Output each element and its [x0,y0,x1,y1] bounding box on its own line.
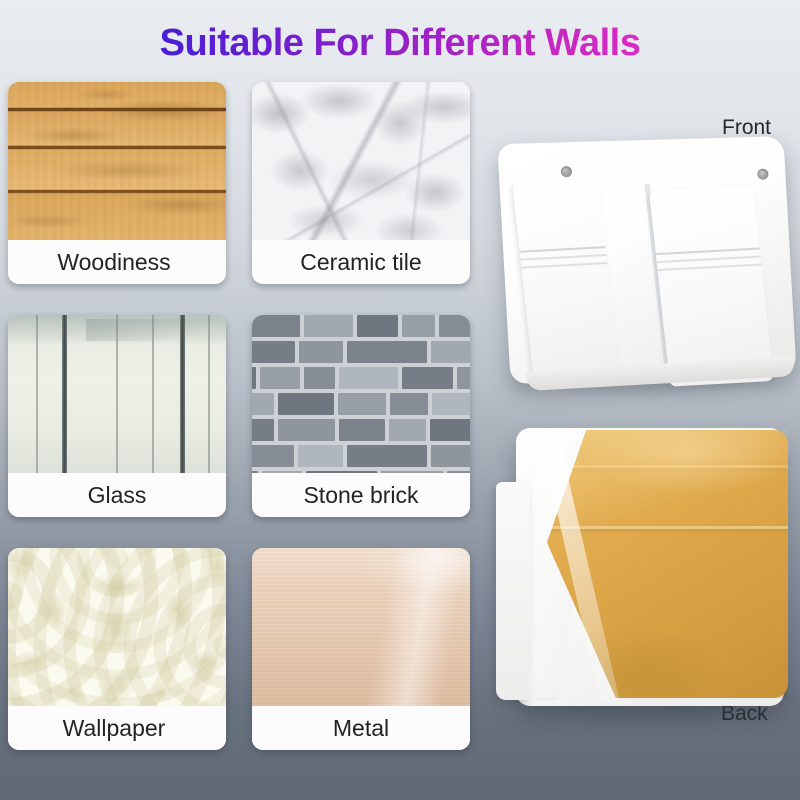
brick [347,341,426,363]
product-backplate [497,136,796,384]
wall-type-label: Ceramic tile [300,251,421,274]
brick-course [252,341,470,363]
brick-course [252,315,470,337]
glass-mullion [180,315,185,473]
wall-type-card-ceramic-tile[interactable]: Ceramic tile [252,82,470,284]
pocket-seam [656,248,760,256]
wall-type-caption: Ceramic tile [252,240,470,284]
pocket-seam [657,263,761,271]
brick-course [252,419,470,441]
wall-type-caption: Stone brick [252,473,470,517]
brick [252,315,300,337]
brick [439,315,470,337]
brick-course [252,393,470,415]
metal-sheen-overlay [252,548,470,706]
product-side-flange [496,482,530,700]
brick [252,419,274,441]
brick [338,393,385,415]
wall-type-caption: Woodiness [8,240,226,284]
glass-texture [8,315,226,473]
product-front-view [492,138,798,390]
pocket-seam [657,256,761,264]
wall-type-label: Glass [88,484,147,507]
brick [430,419,470,441]
wall-type-label: Metal [333,717,389,740]
wood-grain-overlay [8,82,226,240]
wall-type-label: Wallpaper [63,717,172,740]
brick [431,445,470,467]
brick [431,341,470,363]
pocket-seam [521,262,607,269]
wall-type-card-glass[interactable]: Glass [8,315,226,517]
brick [260,367,300,389]
glass-seam [208,315,210,473]
product-back-view [496,418,798,718]
remote-pocket-left [512,178,619,382]
brick [339,367,398,389]
wall-type-card-wallpaper[interactable]: Wallpaper [8,548,226,750]
wall-type-caption: Wallpaper [8,706,226,750]
brick [252,367,256,389]
wallpaper-texture [8,548,226,706]
wall-type-label: Woodiness [57,251,176,274]
pocket-seam [520,254,606,261]
brick [390,393,429,415]
brick [432,393,470,415]
brick [402,367,453,389]
marble-texture [252,82,470,240]
glass-seam [152,315,154,473]
glass-panes [8,315,226,473]
wall-type-label: Stone brick [303,484,418,507]
glass-seam [116,315,118,473]
screw-hole-icon [561,166,573,177]
brick [278,393,334,415]
infographic-canvas: Suitable For Different Walls Woodiness C… [0,0,800,800]
brick [402,315,435,337]
brick-texture [252,315,470,473]
brick [252,341,295,363]
brick [252,445,294,467]
marble-vein-overlay [252,82,470,240]
brick [304,315,353,337]
brick-course [252,445,470,467]
wood-texture [8,82,226,240]
screw-hole-icon [757,169,769,180]
brick [304,367,335,389]
brick [278,419,334,441]
glass-mullion [62,315,67,473]
wall-type-card-woodiness[interactable]: Woodiness [8,82,226,284]
brick [252,393,274,415]
pocket-seam [520,246,606,253]
glass-seam [36,315,38,473]
brick [298,445,342,467]
wall-type-grid: Woodiness Ceramic tile [8,82,470,750]
brick [347,445,427,467]
brick-course [252,367,470,389]
brick [457,367,470,389]
page-title: Suitable For Different Walls [0,22,800,65]
brick [357,315,398,337]
wall-type-caption: Glass [8,473,226,517]
damask-motif-overlay [8,548,226,706]
remote-pocket-right [649,186,774,387]
metal-texture [252,548,470,706]
brick [299,341,344,363]
wall-type-card-stone-brick[interactable]: Stone brick [252,315,470,517]
brick [339,419,386,441]
brick-courses [252,315,470,473]
wall-type-caption: Metal [252,706,470,750]
brick [389,419,426,441]
wall-type-card-metal[interactable]: Metal [252,548,470,750]
